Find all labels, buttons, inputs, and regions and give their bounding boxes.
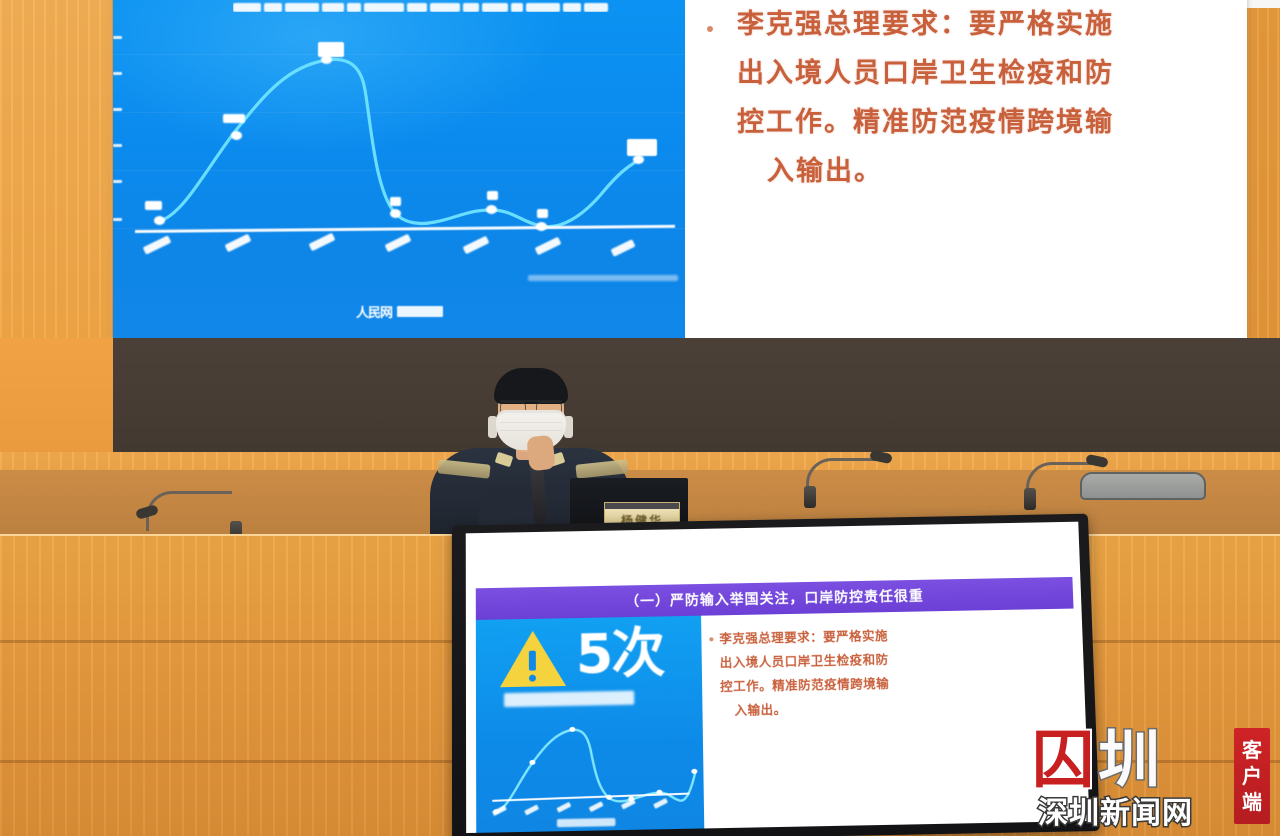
monitor-peoples-daily-logo	[557, 818, 616, 827]
pm-logo-mark	[397, 306, 443, 317]
monitor-slide-text: 李克强总理要求：要严格实施 出入境人员口岸卫生检疫和防 控工作。精准防范疫情跨境…	[719, 621, 1051, 723]
monitor-caption-blur	[504, 691, 634, 708]
confidence-monitor: （一）严防输入举国关注，口岸防控责任很重 5次	[452, 514, 1100, 836]
peoples-daily-logo: 人民网	[356, 302, 443, 321]
monitor-body-line-4: 入输出。	[720, 693, 1051, 723]
seat-back	[1080, 472, 1206, 500]
wall-dark-band-left-cover	[0, 338, 113, 460]
watermark-logo: 囚 圳	[1032, 726, 1228, 794]
monitor-screen: （一）严防输入举国关注，口岸防控责任很重 5次	[466, 522, 1090, 833]
slide-body-line-1: 李克强总理要求：要严格实施	[737, 0, 1237, 49]
presenter-hair	[494, 368, 568, 404]
monitor-chart-panel: 5次	[476, 616, 704, 833]
watermark-tag-char-2: 户	[1242, 765, 1262, 787]
watermark-subtitle: 深圳新闻网	[1038, 788, 1193, 832]
ceiling-sliver	[1247, 0, 1280, 8]
watermark-client-tag: 客 户 端	[1234, 728, 1270, 824]
monitor-highlight-number: 5次	[576, 624, 664, 683]
slide-body-text: 李克强总理要求：要严格实施 出入境人员口岸卫生检疫和防 控工作。精准防范疫情跨境…	[737, 0, 1237, 196]
monitor-slide-body: 5次	[476, 609, 1082, 833]
slide-body-line-2: 出入境人员口岸卫生检疫和防	[737, 49, 1237, 98]
chart-line	[113, 0, 685, 339]
main-projection-screen: 人民网 李克强总理要求：要严格实施 出入境人员口岸卫生检疫和防 控工作。精准防范…	[113, 0, 1247, 339]
shenzhen-news-watermark: 囚 圳 深圳新闻网 客 户 端	[1032, 726, 1280, 830]
slide-body-line-3: 控工作。精准防范疫情跨境输	[737, 98, 1237, 147]
gooseneck-microphone-right	[800, 452, 920, 510]
monitor-slide-bullet-icon	[709, 637, 713, 641]
watermark-tag-char-1: 客	[1242, 739, 1262, 761]
warning-exclamation-icon	[529, 651, 536, 671]
slide-body-line-4: 入输出。	[737, 147, 1237, 196]
watermark-tag-char-3: 端	[1242, 791, 1262, 813]
chart-source-note	[528, 275, 678, 281]
monitor-slide-title: （一）严防输入举国关注，口岸防控责任很重	[625, 586, 924, 611]
monitor-mini-chart	[480, 711, 700, 833]
slide-chart-panel: 人民网	[113, 0, 685, 339]
presenter-hand	[526, 435, 555, 472]
slide-bullet-icon	[707, 26, 713, 32]
watermark-glyph-white: 圳	[1098, 729, 1160, 791]
monitor-bezel: （一）严防输入举国关注，口岸防控责任很重 5次	[452, 514, 1100, 836]
pm-logo-glyph: 人民网	[356, 302, 392, 321]
screenshot-root: 人民网 李克强总理要求：要严格实施 出入境人员口岸卫生检疫和防 控工作。精准防范…	[0, 0, 1280, 836]
slide-text-panel: 李克强总理要求：要严格实施 出入境人员口岸卫生检疫和防 控工作。精准防范疫情跨境…	[685, 0, 1247, 339]
wall-dark-band	[0, 338, 1280, 460]
name-plate-top-edge	[605, 503, 679, 509]
watermark-glyph-red: 囚	[1032, 729, 1094, 791]
